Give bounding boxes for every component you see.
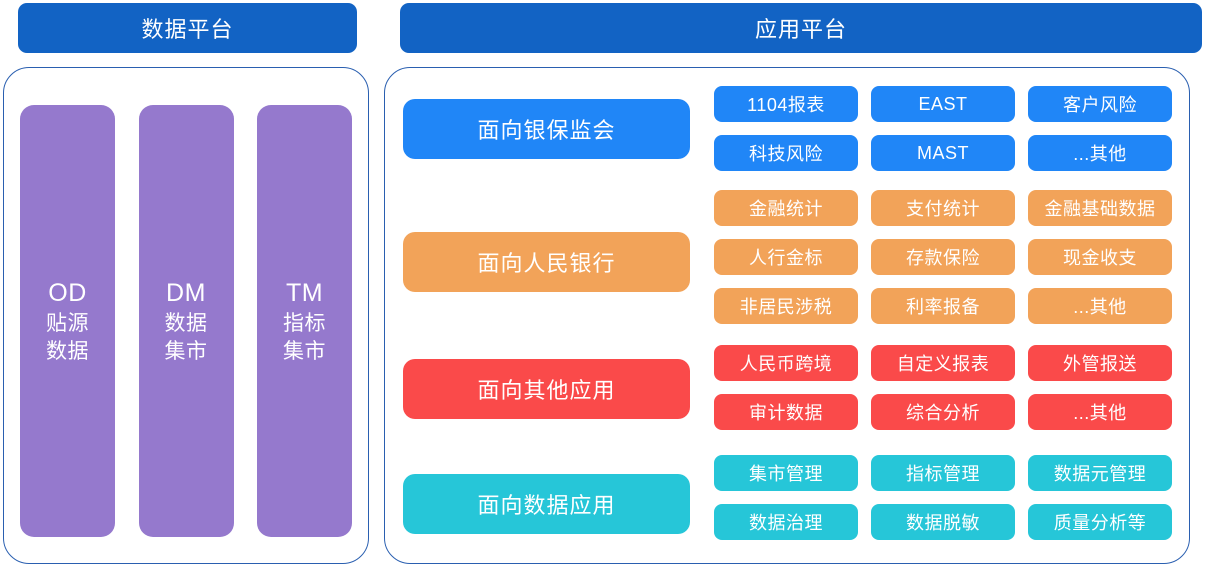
data-layer-desc-line1: 数据 bbox=[165, 310, 208, 338]
app-card-row: 人行金标 存款保险 现金收支 bbox=[714, 239, 1173, 275]
app-platform-header: 应用平台 bbox=[400, 3, 1202, 53]
app-card-label: 自定义报表 bbox=[897, 350, 990, 376]
app-group-label-text: 面向数据应用 bbox=[477, 488, 615, 520]
app-card[interactable]: ...其他 bbox=[1028, 394, 1172, 430]
app-card[interactable]: 数据元管理 bbox=[1028, 455, 1172, 491]
data-platform-header: 数据平台 bbox=[18, 3, 357, 53]
app-card-label: 数据元管理 bbox=[1054, 460, 1147, 486]
data-layer-code: OD bbox=[48, 277, 87, 310]
app-card-label: 现金收支 bbox=[1063, 244, 1137, 270]
app-card[interactable]: 科技风险 bbox=[714, 135, 858, 171]
app-card-label: 人行金标 bbox=[749, 244, 823, 270]
app-card-label: 审计数据 bbox=[749, 399, 823, 425]
app-card[interactable]: 数据脱敏 bbox=[871, 504, 1015, 540]
data-layer-desc-line2: 集市 bbox=[165, 338, 208, 366]
app-group-label[interactable]: 面向人民银行 bbox=[403, 232, 690, 292]
data-layer-column[interactable]: TM 指标 集市 bbox=[257, 105, 352, 537]
app-card-label: 人民币跨境 bbox=[740, 350, 833, 376]
app-card-label: EAST bbox=[918, 94, 967, 115]
app-card-label: ...其他 bbox=[1073, 293, 1127, 319]
app-card-label: 金融统计 bbox=[749, 195, 823, 221]
app-card[interactable]: 现金收支 bbox=[1028, 239, 1172, 275]
app-card[interactable]: EAST bbox=[871, 86, 1015, 122]
app-card[interactable]: 集市管理 bbox=[714, 455, 858, 491]
app-card[interactable]: MAST bbox=[871, 135, 1015, 171]
data-layer-column[interactable]: OD 贴源 数据 bbox=[20, 105, 115, 537]
app-card[interactable]: 自定义报表 bbox=[871, 345, 1015, 381]
app-card[interactable]: 外管报送 bbox=[1028, 345, 1172, 381]
app-card-label: 数据脱敏 bbox=[906, 509, 980, 535]
data-platform-columns: OD 贴源 数据 DM 数据 集市 TM 指标 集市 bbox=[20, 105, 352, 537]
app-card[interactable]: 数据治理 bbox=[714, 504, 858, 540]
app-group-regulator: 面向银保监会 1104报表 EAST 客户风险 科技风险 MAST ...其他 bbox=[403, 86, 1173, 174]
app-group-label[interactable]: 面向数据应用 bbox=[403, 474, 690, 534]
app-group-data-apps: 面向数据应用 集市管理 指标管理 数据元管理 数据治理 数据脱敏 质量分析等 bbox=[403, 455, 1173, 550]
app-card-label: 科技风险 bbox=[749, 140, 823, 166]
app-group-cards: 人民币跨境 自定义报表 外管报送 审计数据 综合分析 ...其他 bbox=[714, 345, 1173, 430]
app-card[interactable]: 金融基础数据 bbox=[1028, 190, 1172, 226]
app-card[interactable]: 存款保险 bbox=[871, 239, 1015, 275]
app-card[interactable]: 人民币跨境 bbox=[714, 345, 858, 381]
data-layer-code: DM bbox=[166, 277, 206, 310]
app-card[interactable]: 质量分析等 bbox=[1028, 504, 1172, 540]
app-card-row: 1104报表 EAST 客户风险 bbox=[714, 86, 1173, 122]
app-card[interactable]: ...其他 bbox=[1028, 135, 1172, 171]
app-group-label-text: 面向银保监会 bbox=[477, 113, 615, 145]
app-group-label[interactable]: 面向银保监会 bbox=[403, 99, 690, 159]
app-card-label: ...其他 bbox=[1073, 140, 1127, 166]
app-card-row: 非居民涉税 利率报备 ...其他 bbox=[714, 288, 1173, 324]
app-card[interactable]: 审计数据 bbox=[714, 394, 858, 430]
app-group-other-apps: 面向其他应用 人民币跨境 自定义报表 外管报送 审计数据 综合分析 ...其他 bbox=[403, 345, 1173, 433]
architecture-diagram: 数据平台 OD 贴源 数据 DM 数据 集市 TM 指标 集市 应用平台 面向银… bbox=[0, 0, 1214, 569]
app-group-central-bank: 面向人民银行 金融统计 支付统计 金融基础数据 人行金标 存款保险 现金收支 非… bbox=[403, 190, 1173, 329]
app-platform-title: 应用平台 bbox=[755, 12, 847, 44]
app-card[interactable]: 支付统计 bbox=[871, 190, 1015, 226]
app-card[interactable]: 金融统计 bbox=[714, 190, 858, 226]
data-layer-desc-line2: 集市 bbox=[283, 338, 326, 366]
app-card-label: 利率报备 bbox=[906, 293, 980, 319]
app-card-row: 集市管理 指标管理 数据元管理 bbox=[714, 455, 1173, 491]
app-card[interactable]: 人行金标 bbox=[714, 239, 858, 275]
app-card[interactable]: 综合分析 bbox=[871, 394, 1015, 430]
app-card[interactable]: 非居民涉税 bbox=[714, 288, 858, 324]
app-group-label-text: 面向人民银行 bbox=[477, 246, 615, 278]
data-layer-desc-line1: 指标 bbox=[283, 310, 326, 338]
app-card-label: ...其他 bbox=[1073, 399, 1127, 425]
app-card[interactable]: ...其他 bbox=[1028, 288, 1172, 324]
app-card-label: 数据治理 bbox=[749, 509, 823, 535]
app-group-label-text: 面向其他应用 bbox=[477, 373, 615, 405]
data-platform-title: 数据平台 bbox=[141, 12, 233, 44]
app-card-label: MAST bbox=[917, 143, 969, 164]
app-card-row: 金融统计 支付统计 金融基础数据 bbox=[714, 190, 1173, 226]
app-card-label: 综合分析 bbox=[906, 399, 980, 425]
data-layer-code: TM bbox=[286, 277, 323, 310]
app-card-label: 集市管理 bbox=[749, 460, 823, 486]
app-card-label: 客户风险 bbox=[1063, 91, 1137, 117]
app-card-label: 非居民涉税 bbox=[740, 293, 833, 319]
app-card[interactable]: 利率报备 bbox=[871, 288, 1015, 324]
app-group-cards: 集市管理 指标管理 数据元管理 数据治理 数据脱敏 质量分析等 bbox=[714, 455, 1173, 540]
data-layer-desc-line1: 贴源 bbox=[46, 310, 89, 338]
app-card-label: 质量分析等 bbox=[1054, 509, 1147, 535]
app-card-row: 科技风险 MAST ...其他 bbox=[714, 135, 1173, 171]
data-layer-column[interactable]: DM 数据 集市 bbox=[139, 105, 234, 537]
app-card-label: 1104报表 bbox=[747, 91, 825, 117]
app-group-cards: 1104报表 EAST 客户风险 科技风险 MAST ...其他 bbox=[714, 86, 1173, 171]
app-card-label: 存款保险 bbox=[906, 244, 980, 270]
app-group-label[interactable]: 面向其他应用 bbox=[403, 359, 690, 419]
data-layer-desc-line2: 数据 bbox=[46, 338, 89, 366]
app-card[interactable]: 客户风险 bbox=[1028, 86, 1172, 122]
app-group-cards: 金融统计 支付统计 金融基础数据 人行金标 存款保险 现金收支 非居民涉税 利率… bbox=[714, 190, 1173, 324]
app-card[interactable]: 指标管理 bbox=[871, 455, 1015, 491]
app-card-label: 外管报送 bbox=[1063, 350, 1137, 376]
app-card[interactable]: 1104报表 bbox=[714, 86, 858, 122]
app-card-label: 指标管理 bbox=[906, 460, 980, 486]
app-card-label: 金融基础数据 bbox=[1045, 195, 1156, 221]
app-card-row: 审计数据 综合分析 ...其他 bbox=[714, 394, 1173, 430]
app-card-row: 人民币跨境 自定义报表 外管报送 bbox=[714, 345, 1173, 381]
app-card-label: 支付统计 bbox=[906, 195, 980, 221]
app-card-row: 数据治理 数据脱敏 质量分析等 bbox=[714, 504, 1173, 540]
